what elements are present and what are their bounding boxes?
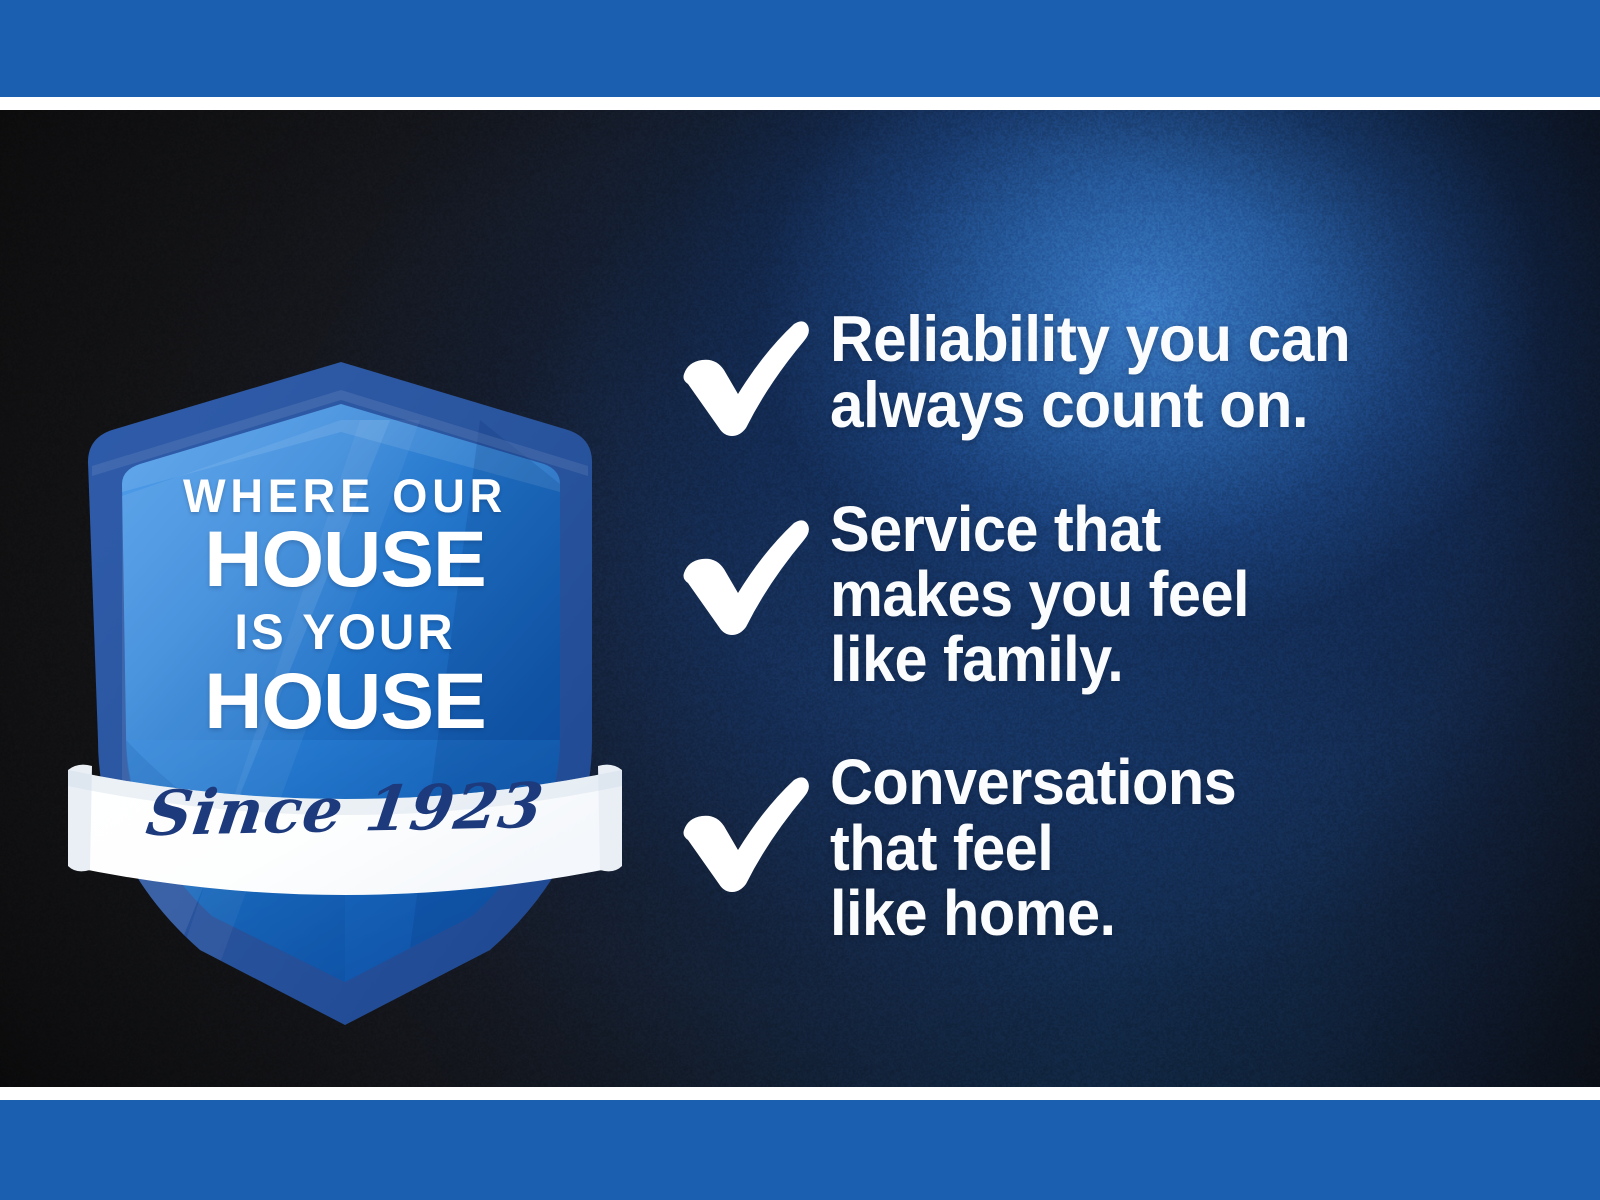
- shield-badge: WHERE OUR HOUSE IS YOUR HOUSE Since 1923: [60, 270, 630, 1060]
- check-icon: [672, 491, 830, 635]
- promo-graphic: WHERE OUR HOUSE IS YOUR HOUSE Since 1923…: [0, 0, 1600, 1200]
- top-divider: [0, 97, 1600, 110]
- benefit-list: Reliability you can always count on. Ser…: [672, 300, 1532, 946]
- check-icon: [672, 744, 830, 892]
- benefit-text: Service that makes you feel like family.: [830, 491, 1249, 693]
- top-accent-band: [0, 0, 1600, 97]
- artwork-panel: WHERE OUR HOUSE IS YOUR HOUSE Since 1923…: [0, 110, 1600, 1087]
- list-item: Service that makes you feel like family.: [672, 491, 1532, 693]
- benefit-text: Conversations that feel like home.: [830, 744, 1236, 946]
- benefit-text: Reliability you can always count on.: [830, 300, 1350, 439]
- list-item: Conversations that feel like home.: [672, 744, 1532, 946]
- bottom-divider: [0, 1087, 1600, 1100]
- bottom-accent-band: [0, 1100, 1600, 1200]
- check-icon: [672, 300, 830, 436]
- list-item: Reliability you can always count on.: [672, 300, 1532, 439]
